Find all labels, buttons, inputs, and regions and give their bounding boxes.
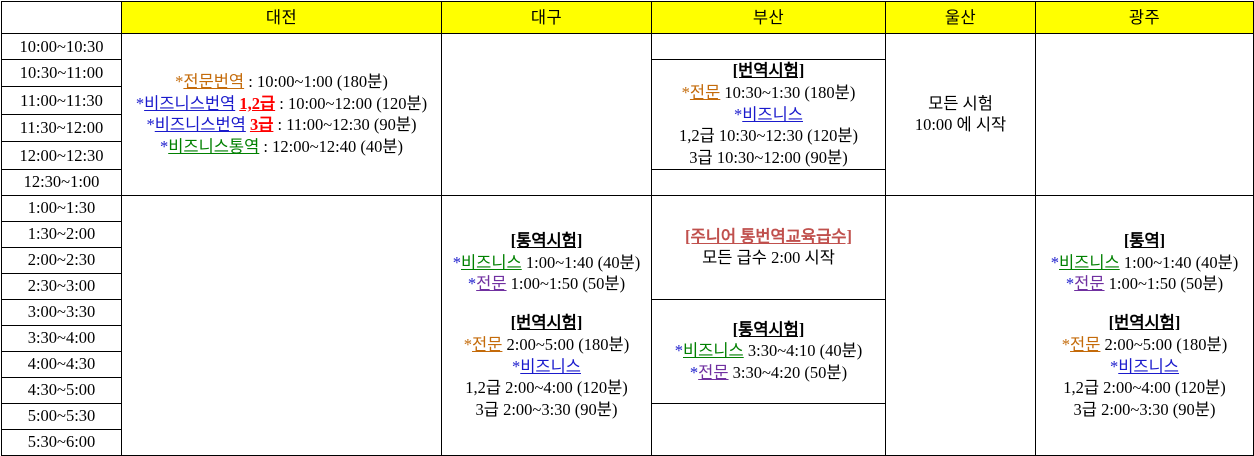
schedule-text: *: [1062, 335, 1070, 354]
schedule-line: 1,2급 2:00~4:00 (120분): [442, 377, 651, 399]
schedule-line: 3급 2:00~3:30 (90분): [1036, 399, 1253, 421]
schedule-text: *: [1066, 274, 1074, 293]
schedule-text: 1:00~1:40 (40분): [522, 253, 641, 272]
schedule-text: *: [690, 363, 698, 382]
schedule-line: [통역시험]: [442, 230, 651, 252]
schedule-text: 비즈니스: [520, 357, 581, 376]
schedule-text: 전문: [1074, 274, 1104, 293]
time-slot-cell: 11:30~12:00: [2, 114, 122, 141]
schedule-text: *: [160, 137, 168, 156]
schedule-text: 1,2급 2:00~4:00 (120분): [1063, 378, 1226, 397]
schedule-line: *비즈니스통역 : 12:00~12:40 (40분): [122, 136, 441, 158]
schedule-line: *비즈니스 3:30~4:10 (40분): [652, 340, 885, 362]
schedule-text: *: [1051, 253, 1059, 272]
ulsan-afternoon-cell: [886, 195, 1036, 455]
line-spacer: [442, 295, 651, 312]
schedule-line: *비즈니스 1:00~1:40 (40분): [442, 252, 651, 274]
schedule-text: : 12:00~12:40 (40분): [259, 137, 403, 156]
schedule-text: 3급 2:00~3:30 (90분): [1074, 400, 1216, 419]
schedule-text: 비즈니스통역: [168, 137, 259, 156]
busan-interpretation-cell: [통역시험]*비즈니스 3:30~4:10 (40분)*전문 3:30~4:20…: [652, 299, 886, 403]
schedule-text: 전문: [698, 363, 728, 382]
schedule-text: *: [136, 94, 144, 113]
schedule-text: *: [453, 253, 461, 272]
schedule-line: *비즈니스: [1036, 356, 1253, 378]
schedule-text: [주니어 통번역교육급수]: [685, 227, 852, 246]
time-slot-cell: 3:00~3:30: [2, 299, 122, 325]
schedule-line: 모든 급수 2:00 시작: [652, 247, 885, 269]
column-header-busan: 부산: [652, 2, 886, 34]
schedule-text: : 10:00~12:00 (120분): [275, 94, 427, 113]
time-slot-cell: 10:30~11:00: [2, 60, 122, 87]
schedule-line: *비즈니스 1:00~1:40 (40분): [1036, 252, 1253, 274]
time-slot-cell: 4:30~5:00: [2, 377, 122, 403]
time-slot-cell: 4:00~4:30: [2, 351, 122, 377]
daejeon-afternoon-cell: [122, 195, 442, 455]
schedule-text: 비즈니스: [742, 105, 803, 124]
schedule-text: [통역시험]: [511, 231, 583, 250]
schedule-text: 전문: [1070, 335, 1100, 354]
schedule-text: 3급: [250, 115, 273, 134]
schedule-text: 10:30~1:30 (180분): [720, 83, 855, 102]
schedule-text: [번역시험]: [511, 313, 583, 332]
column-header-gwangju: 광주: [1036, 2, 1254, 34]
time-slot-cell: 10:00~10:30: [2, 34, 122, 60]
table-header-row: 대전 대구 부산 울산 광주: [2, 2, 1254, 34]
schedule-text: 1:00~1:50 (50분): [1105, 274, 1224, 293]
schedule-text: 3:30~4:20 (50분): [729, 363, 848, 382]
schedule-line: [주니어 통번역교육급수]: [652, 226, 885, 248]
schedule-line: [번역시험]: [442, 312, 651, 334]
header-corner-cell: [2, 2, 122, 34]
schedule-text: *: [512, 357, 520, 376]
schedule-text: 1,2급 10:30~12:30 (120분): [679, 126, 858, 145]
schedule-text: 1:00~1:40 (40분): [1120, 253, 1239, 272]
schedule-line: 3급 10:30~12:00 (90분): [652, 147, 885, 169]
schedule-text: *: [464, 335, 472, 354]
time-slot-cell: 5:30~6:00: [2, 429, 122, 455]
schedule-line: *전문 2:00~5:00 (180분): [1036, 334, 1253, 356]
schedule-text: : 10:00~1:00 (180분): [244, 72, 388, 91]
schedule-line: 1,2급 10:30~12:30 (120분): [652, 125, 885, 147]
schedule-text: *: [675, 341, 683, 360]
schedule-text: 비즈니스: [1059, 253, 1120, 272]
schedule-line: *전문 2:00~5:00 (180분): [442, 334, 651, 356]
ulsan-morning-cell: 모든 시험10:00 에 시작: [886, 34, 1036, 196]
busan-empty-top-cell: [652, 34, 886, 60]
busan-empty-mid-cell: [652, 169, 886, 195]
schedule-text: 비즈니스: [461, 253, 522, 272]
time-slot-cell: 3:30~4:00: [2, 325, 122, 351]
schedule-text: 전문: [476, 274, 506, 293]
column-header-ulsan: 울산: [886, 2, 1036, 34]
schedule-text: 3급 10:30~12:00 (90분): [689, 148, 847, 167]
schedule-line: *비즈니스번역 3급 : 11:00~12:30 (90분): [122, 114, 441, 136]
schedule-text: 1,2급 2:00~4:00 (120분): [465, 378, 628, 397]
schedule-text: 3급 2:00~3:30 (90분): [476, 400, 618, 419]
daegu-morning-cell: [442, 34, 652, 196]
time-slot-cell: 5:00~5:30: [2, 403, 122, 429]
schedule-text: [번역시험]: [733, 61, 805, 80]
schedule-text: 비즈니스: [683, 341, 744, 360]
schedule-text: [통역]: [1124, 231, 1165, 250]
time-slot-cell: 12:00~12:30: [2, 142, 122, 169]
schedule-text: 2:00~5:00 (180분): [1100, 335, 1227, 354]
schedule-text: [통역시험]: [733, 320, 805, 339]
busan-translation-cell: [번역시험]*전문 10:30~1:30 (180분)*비즈니스1,2급 10:…: [652, 60, 886, 170]
column-header-daegu: 대구: [442, 2, 652, 34]
schedule-text: [번역시험]: [1109, 313, 1181, 332]
schedule-text: *: [146, 115, 154, 134]
schedule-line: *전문 3:30~4:20 (50분): [652, 362, 885, 384]
table-row: 10:00~10:30 *전문번역 : 10:00~1:00 (180분)*비즈…: [2, 34, 1254, 60]
busan-empty-bottom-cell: [652, 403, 886, 455]
schedule-text: : 11:00~12:30 (90분): [273, 115, 416, 134]
daejeon-morning-cell: *전문번역 : 10:00~1:00 (180분)*비즈니스번역 1,2급 : …: [122, 34, 442, 196]
schedule-text: 1:00~1:50 (50분): [507, 274, 626, 293]
daegu-afternoon-cell: [통역시험]*비즈니스 1:00~1:40 (40분)*전문 1:00~1:50…: [442, 195, 652, 455]
schedule-text: 전문: [690, 83, 720, 102]
schedule-line: *전문 1:00~1:50 (50분): [1036, 273, 1253, 295]
time-slot-cell: 2:30~3:00: [2, 273, 122, 299]
schedule-text: 비즈니스: [1118, 357, 1179, 376]
schedule-line: 1,2급 2:00~4:00 (120분): [1036, 377, 1253, 399]
schedule-text: 2:00~5:00 (180분): [502, 335, 629, 354]
schedule-text: *: [468, 274, 476, 293]
schedule-line: 10:00 에 시작: [886, 114, 1035, 136]
schedule-text: 비즈니스번역: [155, 115, 246, 134]
time-slot-cell: 1:00~1:30: [2, 195, 122, 221]
schedule-line: 모든 시험: [886, 93, 1035, 115]
schedule-text: 모든 급수 2:00 시작: [702, 248, 835, 267]
column-header-daejeon: 대전: [122, 2, 442, 34]
time-slot-cell: 1:30~2:00: [2, 221, 122, 247]
exam-schedule-table: 대전 대구 부산 울산 광주 10:00~10:30 *전문번역 : 10:00…: [1, 1, 1254, 456]
schedule-text: 전문: [472, 335, 502, 354]
schedule-text: *: [682, 83, 690, 102]
schedule-line: *전문 1:00~1:50 (50분): [442, 273, 651, 295]
schedule-line: *전문 10:30~1:30 (180분): [652, 82, 885, 104]
schedule-text: 10:00 에 시작: [915, 115, 1006, 134]
schedule-line: [번역시험]: [1036, 312, 1253, 334]
schedule-line: *비즈니스: [442, 356, 651, 378]
schedule-line: *비즈니스번역 1,2급 : 10:00~12:00 (120분): [122, 93, 441, 115]
table-row: 1:00~1:30 [통역시험]*비즈니스 1:00~1:40 (40분)*전문…: [2, 195, 1254, 221]
time-slot-cell: 2:00~2:30: [2, 247, 122, 273]
schedule-line: 3급 2:00~3:30 (90분): [442, 399, 651, 421]
schedule-text: 전문번역: [183, 72, 244, 91]
gwangju-afternoon-cell: [통역]*비즈니스 1:00~1:40 (40분)*전문 1:00~1:50 (…: [1036, 195, 1254, 455]
schedule-text: 비즈니스번역: [144, 94, 235, 113]
schedule-line: [번역시험]: [652, 60, 885, 82]
schedule-line: [통역]: [1036, 230, 1253, 252]
time-slot-cell: 12:30~1:00: [2, 169, 122, 195]
schedule-text: 3:30~4:10 (40분): [744, 341, 863, 360]
schedule-text: *: [734, 105, 742, 124]
schedule-text: 1,2급: [239, 94, 275, 113]
schedule-line: *전문번역 : 10:00~1:00 (180분): [122, 71, 441, 93]
schedule-text: *: [1110, 357, 1118, 376]
busan-junior-cell: [주니어 통번역교육급수]모든 급수 2:00 시작: [652, 195, 886, 299]
schedule-line: *비즈니스: [652, 104, 885, 126]
gwangju-morning-cell: [1036, 34, 1254, 196]
schedule-text: 모든 시험: [928, 94, 993, 113]
schedule-line: [통역시험]: [652, 319, 885, 341]
time-slot-cell: 11:00~11:30: [2, 87, 122, 114]
line-spacer: [1036, 295, 1253, 312]
